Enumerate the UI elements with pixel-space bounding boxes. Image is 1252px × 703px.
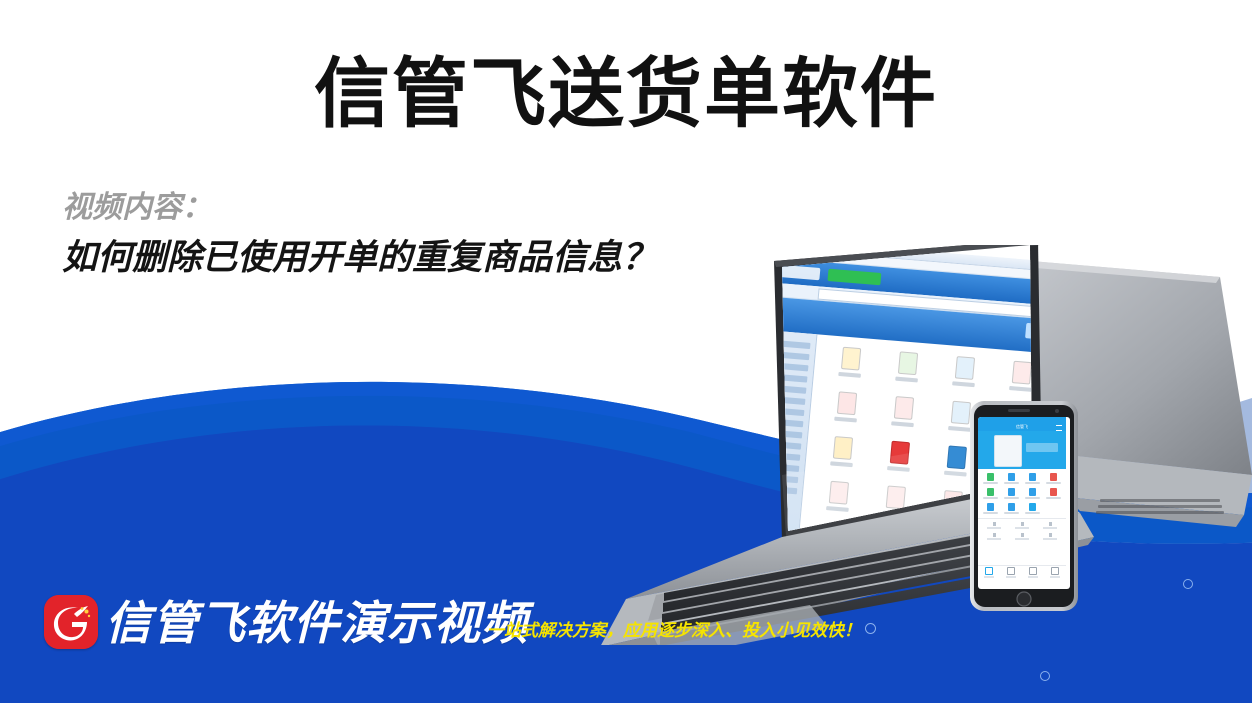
grid-icon (1008, 473, 1015, 481)
phone-app-title: 信管飞 (978, 424, 1066, 430)
decor-bubble (1183, 579, 1193, 589)
video-content-label: 视频内容： (62, 188, 212, 228)
phone-icon-grid (978, 469, 1066, 518)
grid-icon (1008, 488, 1015, 496)
phone-grid-item[interactable] (980, 473, 1001, 484)
grid-icon (987, 503, 994, 511)
phone-grid-item[interactable] (1022, 503, 1043, 514)
stats-row (980, 522, 1064, 529)
grid-icon (1012, 361, 1032, 385)
phone-grid-item[interactable] (1022, 488, 1043, 499)
decor-bubble (1040, 671, 1050, 681)
grid-icon (987, 488, 994, 496)
app-grid-item[interactable] (874, 395, 933, 440)
app-grid-item[interactable] (821, 345, 880, 390)
slide-canvas: 信管飞 (0, 0, 1252, 703)
phone-grid-item[interactable] (1001, 473, 1022, 484)
smartphone: 信管飞 (970, 401, 1078, 611)
phone-grid-item[interactable] (1001, 503, 1022, 514)
xinguanfei-logo-icon (44, 595, 98, 649)
banner-text (1026, 443, 1058, 452)
stat-cell (1043, 533, 1057, 540)
stat-cell (1043, 522, 1057, 529)
phone-grid-item[interactable] (1043, 473, 1064, 484)
grid-icon (1008, 503, 1015, 511)
grid-icon (1029, 503, 1036, 511)
stat-cell (1015, 522, 1029, 529)
grid-icon (833, 436, 853, 460)
phone-grid-item[interactable] (1022, 473, 1043, 484)
phone-tab-bar (978, 565, 1066, 579)
grid-icon (841, 347, 861, 371)
grid-icon (1050, 473, 1057, 481)
stats-row (980, 533, 1064, 540)
brand-tagline: 一站式解决方案，应用逐步深入、投入小见效快！ (487, 620, 861, 642)
phone-stats-panel (978, 518, 1066, 547)
phone-grid-item[interactable] (1001, 488, 1022, 499)
app-grid-item[interactable] (935, 355, 994, 400)
phone-grid-item[interactable] (980, 503, 1001, 514)
phone-nav-bar: 信管飞 (978, 422, 1066, 431)
app-grid-item[interactable] (878, 350, 937, 395)
banner-device-image (994, 435, 1022, 467)
phone-grid-item[interactable] (1043, 488, 1064, 499)
grid-icon (1029, 473, 1036, 481)
grid-icon (951, 401, 971, 425)
stat-cell (987, 533, 1001, 540)
grid-icon (898, 351, 918, 375)
tab-profile[interactable] (1044, 566, 1066, 579)
tab-reports[interactable] (1022, 566, 1044, 579)
stat-cell (987, 522, 1001, 529)
app-green-tab[interactable] (827, 269, 881, 286)
grid-icon (1050, 488, 1057, 496)
grid-icon (987, 473, 994, 481)
devices-group: 信管飞 (560, 245, 1252, 645)
phone-app-screen: 信管飞 (978, 417, 1066, 579)
stat-cell (1015, 533, 1029, 540)
decor-bubble (865, 623, 876, 634)
app-logo-icon (781, 265, 821, 280)
phone-grid-item[interactable] (980, 488, 1001, 499)
video-content-question: 如何删除已使用开单的重复商品信息？ (62, 235, 657, 281)
page-title: 信管飞送货单软件 (0, 52, 1252, 136)
grid-icon (1029, 488, 1036, 496)
phone-banner (978, 431, 1066, 469)
app-grid-item[interactable] (817, 390, 876, 435)
grid-icon (955, 356, 975, 380)
grid-icon (837, 391, 857, 415)
brand-name: 信管飞软件演示视频 (105, 597, 528, 649)
tab-home[interactable] (978, 566, 1000, 579)
tab-business[interactable] (1000, 566, 1022, 579)
grid-icon (894, 396, 914, 420)
